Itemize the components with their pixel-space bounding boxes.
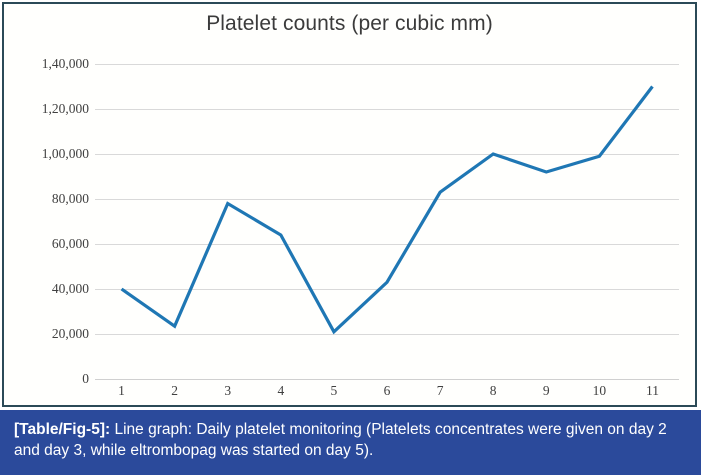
y-tick-label: 1,20,000 xyxy=(42,101,89,117)
plot-area xyxy=(95,64,679,379)
y-tick-label: 40,000 xyxy=(52,281,89,297)
y-axis-tick-labels: 020,00040,00060,00080,0001,00,0001,20,00… xyxy=(4,64,89,379)
chart-card: Platelet counts (per cubic mm) 020,00040… xyxy=(2,2,697,407)
x-tick-label: 1 xyxy=(118,383,125,399)
x-tick-label: 9 xyxy=(543,383,550,399)
gridline-0 xyxy=(95,379,679,380)
caption-body: Line graph: Daily platelet monitoring (P… xyxy=(14,421,667,459)
x-tick-label: 2 xyxy=(171,383,178,399)
caption-text: [Table/Fig-5]: Line graph: Daily platele… xyxy=(14,419,687,461)
y-tick-label: 20,000 xyxy=(52,326,89,342)
caption-figure-label: [Table/Fig-5]: xyxy=(14,421,110,438)
x-tick-label: 10 xyxy=(593,383,607,399)
x-tick-label: 5 xyxy=(331,383,338,399)
x-tick-label: 7 xyxy=(437,383,444,399)
line-series-svg xyxy=(95,64,679,379)
x-tick-label: 8 xyxy=(490,383,497,399)
figure-container: Platelet counts (per cubic mm) 020,00040… xyxy=(0,0,701,475)
x-axis-tick-labels: 1234567891011 xyxy=(95,381,679,407)
y-tick-label: 60,000 xyxy=(52,236,89,252)
x-tick-label: 6 xyxy=(384,383,391,399)
x-tick-label: 4 xyxy=(277,383,284,399)
y-tick-label: 1,40,000 xyxy=(42,56,89,72)
x-tick-label: 3 xyxy=(224,383,231,399)
line-series-platelet-count xyxy=(122,87,653,332)
y-tick-label: 80,000 xyxy=(52,191,89,207)
chart-title: Platelet counts (per cubic mm) xyxy=(4,12,695,36)
caption-bar: [Table/Fig-5]: Line graph: Daily platele… xyxy=(0,410,701,475)
y-tick-label: 1,00,000 xyxy=(42,146,89,162)
y-tick-label: 0 xyxy=(82,371,89,387)
x-tick-label: 11 xyxy=(646,383,659,399)
